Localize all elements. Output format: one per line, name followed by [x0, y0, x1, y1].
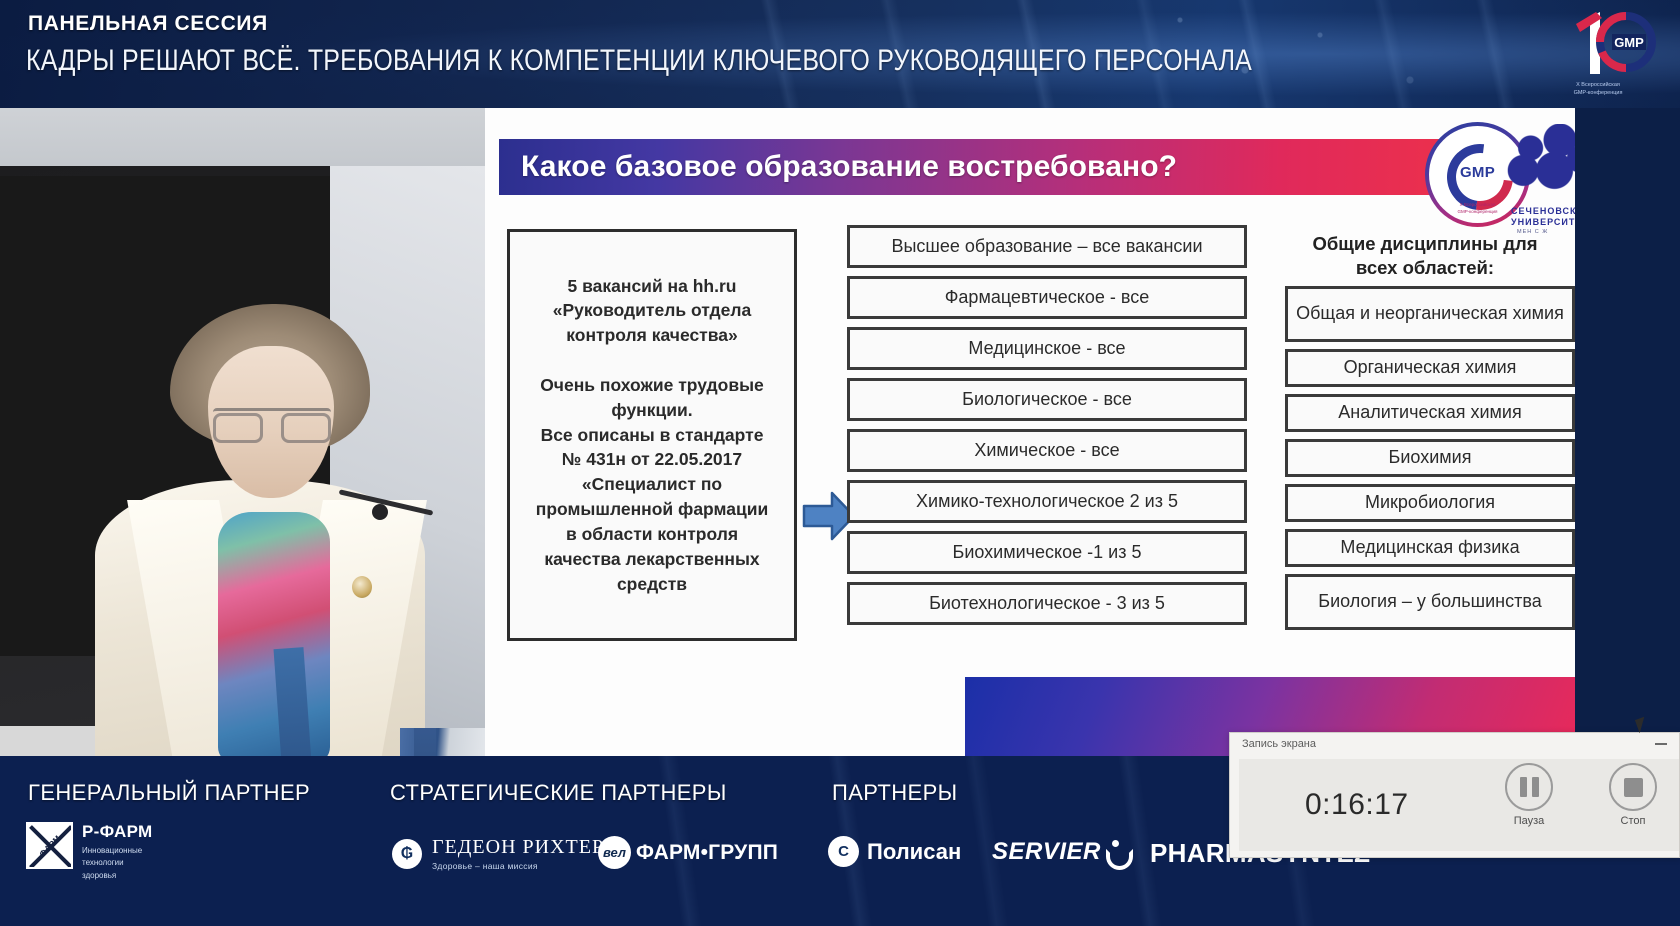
speaker-scarf — [218, 512, 330, 756]
servier-logo: SERVIER — [992, 838, 1127, 866]
polisan-mark-icon: C — [828, 836, 859, 867]
microphone-head — [372, 504, 388, 520]
recorder-title: Запись экрана — [1242, 738, 1316, 750]
top-banner: ПАНЕЛЬНАЯ СЕССИЯ КАДРЫ РЕШАЮТ ВСЁ. ТРЕБО… — [0, 0, 1680, 108]
slide-right-background — [1575, 108, 1680, 756]
laptop-edge — [400, 728, 485, 756]
common-disciplines-heading: Общие дисциплины для всех областей: — [1280, 232, 1570, 280]
conf-sub1: X Всероссийская — [1576, 82, 1620, 88]
stop-label: Стоп — [1593, 815, 1673, 827]
rpharm-mark-icon: ФАРМ — [26, 822, 73, 869]
education-types-list: Высшее образование – все вакансииФармаце… — [847, 225, 1247, 633]
recorder-controls: Пауза Стоп — [1489, 763, 1673, 827]
pause-label: Пауза — [1489, 815, 1569, 827]
recording-timer: 0:16:17 — [1305, 788, 1409, 822]
speaker-glasses — [213, 408, 331, 436]
sechenov-line2: УНИВЕРСИТЕТ — [1511, 217, 1575, 227]
servier-mark-icon — [1105, 840, 1127, 864]
gmp-sub2: GMP-конференция — [1458, 209, 1498, 214]
rpharm-tagline: Инновационные технологии здоровья — [82, 845, 152, 882]
velfarm-group-logo: вел ФАРМ•ГРУПП — [598, 836, 778, 869]
recorder-body: 0:16:17 Пауза Стоп — [1239, 759, 1679, 851]
servier-name: SERVIER — [992, 838, 1101, 866]
discipline-item: Микробиология — [1285, 484, 1575, 522]
pause-button[interactable]: Пауза — [1489, 763, 1569, 827]
conference-logo: GMP X Всероссийская GMP-конференция — [1538, 8, 1658, 100]
svg-text:GMP: GMP — [1614, 35, 1644, 50]
stop-button[interactable]: Стоп — [1593, 763, 1673, 827]
screen-recorder-widget[interactable]: Запись экрана 0:16:17 Пауза Стоп — [1229, 732, 1680, 858]
slide-title-bar: Какое базовое образование востребовано? — [499, 139, 1499, 195]
discipline-item: Органическая химия — [1285, 349, 1575, 387]
recorder-titlebar: Запись экрана — [1230, 733, 1679, 757]
video-wall-top — [0, 108, 485, 166]
discipline-item: Медицинская физика — [1285, 529, 1575, 567]
sechenov-university-logo: СЕЧЕНОВСКИЙ УНИВЕРСИТЕТ МЕН С Ж — [1497, 124, 1575, 244]
education-type-item: Биологическое - все — [847, 378, 1247, 421]
education-type-item: Химическое - все — [847, 429, 1247, 472]
gedeon-tagline: Здоровье – наша миссия — [432, 861, 604, 871]
speaker-brooch — [352, 576, 372, 598]
vacancies-info-text: 5 вакансий на hh.ru «Руководитель отдела… — [528, 274, 777, 597]
education-type-item: Медицинское - все — [847, 327, 1247, 370]
polisan-name: Полисан — [867, 839, 961, 865]
gmp-sub1: X Всероссийская — [1460, 202, 1496, 207]
polisan-logo: C Полисан — [828, 836, 961, 867]
education-type-item: Фармацевтическое - все — [847, 276, 1247, 319]
education-type-item: Биохимическое -1 из 5 — [847, 531, 1247, 574]
sechenov-line1: СЕЧЕНОВСКИЙ — [1511, 206, 1575, 216]
presentation-slide[interactable]: Какое базовое образование востребовано? … — [485, 108, 1575, 756]
slide-title: Какое базовое образование востребовано? — [499, 150, 1177, 184]
rpharm-mark-text: ФАРМ — [37, 833, 62, 858]
session-title: КАДРЫ РЕШАЮТ ВСЁ. ТРЕБОВАНИЯ К КОМПЕТЕНЦ… — [26, 44, 1252, 78]
education-type-item: Высшее образование – все вакансии — [847, 225, 1247, 268]
gedeon-name: ГЕДЕОН РИХТЕР — [432, 836, 604, 859]
discipline-item: Биохимия — [1285, 439, 1575, 477]
screenshot-root: ПАНЕЛЬНАЯ СЕССИЯ КАДРЫ РЕШАЮТ ВСЁ. ТРЕБО… — [0, 0, 1680, 926]
gmp-10-icon: GMP — [1538, 8, 1658, 86]
gedeon-mark-icon — [392, 839, 422, 869]
minimize-icon[interactable] — [1655, 743, 1667, 745]
gedeon-richter-logo: ГЕДЕОН РИХТЕР Здоровье – наша миссия — [392, 836, 604, 871]
tree-icon — [1503, 124, 1575, 204]
laptop-screen-bar — [414, 728, 436, 756]
pause-icon — [1505, 763, 1553, 811]
discipline-item: Аналитическая химия — [1285, 394, 1575, 432]
stop-icon — [1609, 763, 1657, 811]
conference-logo-subtitle: X Всероссийская GMP-конференция — [1574, 82, 1623, 98]
discipline-item: Биология – у большинства — [1285, 574, 1575, 630]
velfarm-name: ФАРМ•ГРУПП — [636, 841, 778, 865]
rpharm-logo: ФАРМ Р-ФАРМ Инновационные технологии здо… — [26, 822, 152, 882]
conf-sub2: GMP-конференция — [1574, 90, 1623, 96]
vacancies-info-box: 5 вакансий на hh.ru «Руководитель отдела… — [507, 229, 797, 641]
general-partner-label: ГЕНЕРАЛЬНЫЙ ПАРТНЕР — [28, 780, 310, 806]
session-type-label: ПАНЕЛЬНАЯ СЕССИЯ — [28, 12, 268, 36]
education-type-item: Химико-технологическое 2 из 5 — [847, 480, 1247, 523]
discipline-item: Общая и неорганическая химия — [1285, 286, 1575, 342]
common-disciplines-list: Общая и неорганическая химияОрганическая… — [1285, 286, 1575, 637]
education-type-item: Биотехнологическое - 3 из 5 — [847, 582, 1247, 625]
speaker-video[interactable] — [0, 108, 485, 756]
rpharm-name: Р-ФАРМ — [82, 822, 152, 842]
strategic-partners-label: СТРАТЕГИЧЕСКИЕ ПАРТНЕРЫ — [390, 780, 727, 806]
velfarm-mark-icon: вел — [598, 836, 631, 869]
partners-label: ПАРТНЕРЫ — [832, 780, 958, 806]
